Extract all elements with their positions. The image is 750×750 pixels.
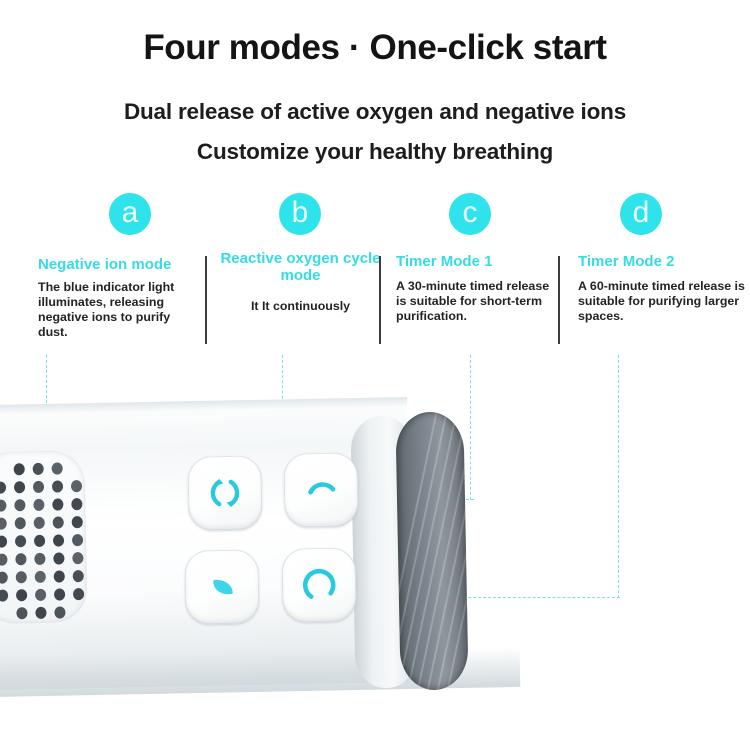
grille-dot (15, 553, 26, 565)
grille-dot (73, 588, 84, 600)
grille-dot (34, 535, 45, 547)
grille-dot (34, 553, 45, 565)
grille-dot (73, 570, 84, 582)
grille-dot (15, 517, 26, 529)
negative-ion-button[interactable] (184, 549, 259, 624)
cycle-mode-button[interactable] (187, 455, 262, 530)
timer-60-button[interactable] (281, 547, 356, 622)
mode-badge-d-letter: d (633, 198, 650, 228)
grille-dot (0, 571, 8, 583)
grille-dot (16, 589, 27, 601)
grille-dot (16, 571, 27, 583)
mode-column-a: Negative ion mode The blue indicator lig… (38, 256, 200, 340)
grille-dot (54, 588, 65, 600)
grille-dot (33, 499, 44, 511)
arc-short-icon (301, 470, 342, 511)
leader-d-vertical (618, 355, 619, 598)
grille-dot (0, 553, 8, 565)
cycle-arrows-icon (205, 473, 246, 514)
speaker-grille (0, 450, 88, 624)
arc-long-icon (299, 565, 340, 606)
grille-dot (54, 606, 65, 618)
column-divider-1 (205, 256, 207, 344)
grille-dot (0, 500, 7, 512)
grille-dot (53, 516, 64, 528)
mode-column-b: Reactive oxygen cycle mode It It continu… (218, 250, 383, 314)
subtitle-primary: Dual release of active oxygen and negati… (0, 99, 750, 125)
timer-30-button[interactable] (283, 452, 358, 527)
mode-badge-c-letter: c (463, 198, 478, 228)
mode-badge-b: b (279, 193, 321, 235)
grille-dot (53, 534, 64, 546)
grille-dot (14, 481, 25, 493)
grille-dot (53, 552, 64, 564)
grille-dot (35, 571, 46, 583)
vent-end-cap (395, 411, 468, 690)
grille-dot (33, 481, 44, 493)
grille-dot (35, 607, 46, 619)
grille-dot (14, 499, 25, 511)
air-purifier-device (0, 398, 520, 698)
grille-dot (52, 462, 63, 474)
grille-dot (0, 482, 6, 494)
grille-dot (0, 589, 8, 601)
mode-a-title: Negative ion mode (38, 256, 200, 273)
mode-d-title: Timer Mode 2 (578, 253, 746, 270)
mode-b-title: Reactive oxygen cycle mode (218, 250, 383, 285)
mode-c-title: Timer Mode 1 (396, 253, 554, 270)
page-title: Four modes · One-click start (0, 28, 750, 68)
mode-badge-d: d (620, 193, 662, 235)
mode-d-description: A 60-minute timed release is suitable fo… (578, 279, 746, 324)
grille-dot (72, 552, 83, 564)
grille-dot (52, 480, 63, 492)
mode-badge-a: a (109, 193, 151, 235)
grille-dot (71, 498, 82, 510)
mode-badge-c: c (449, 193, 491, 235)
subtitle-secondary: Customize your healthy breathing (0, 139, 750, 165)
mode-column-d: Timer Mode 2 A 60-minute timed release i… (578, 253, 746, 324)
grille-dot (0, 518, 7, 530)
grille-dot (14, 463, 25, 475)
leaf-icon (202, 567, 243, 608)
mode-b-description: It It continuously (218, 299, 383, 314)
mode-c-description: A 30-minute timed release is suitable fo… (396, 279, 554, 324)
grille-dot (15, 535, 26, 547)
grille-dot (71, 480, 82, 492)
grille-dot (54, 570, 65, 582)
column-divider-2 (379, 256, 381, 344)
grille-dot (35, 589, 46, 601)
mode-badge-b-letter: b (292, 198, 309, 228)
grille-dot (52, 498, 63, 510)
grille-dot (16, 607, 27, 619)
grille-dot (72, 516, 83, 528)
grille-dot (34, 517, 45, 529)
mode-column-c: Timer Mode 1 A 30-minute timed release i… (396, 253, 554, 324)
mode-a-description: The blue indicator light illuminates, re… (38, 280, 200, 340)
grille-dot (72, 534, 83, 546)
mode-badge-a-letter: a (122, 198, 139, 228)
column-divider-3 (558, 256, 560, 344)
grille-dot (0, 535, 7, 547)
grille-dot (33, 463, 44, 475)
infographic-canvas: Four modes · One-click start Dual releas… (0, 0, 750, 750)
